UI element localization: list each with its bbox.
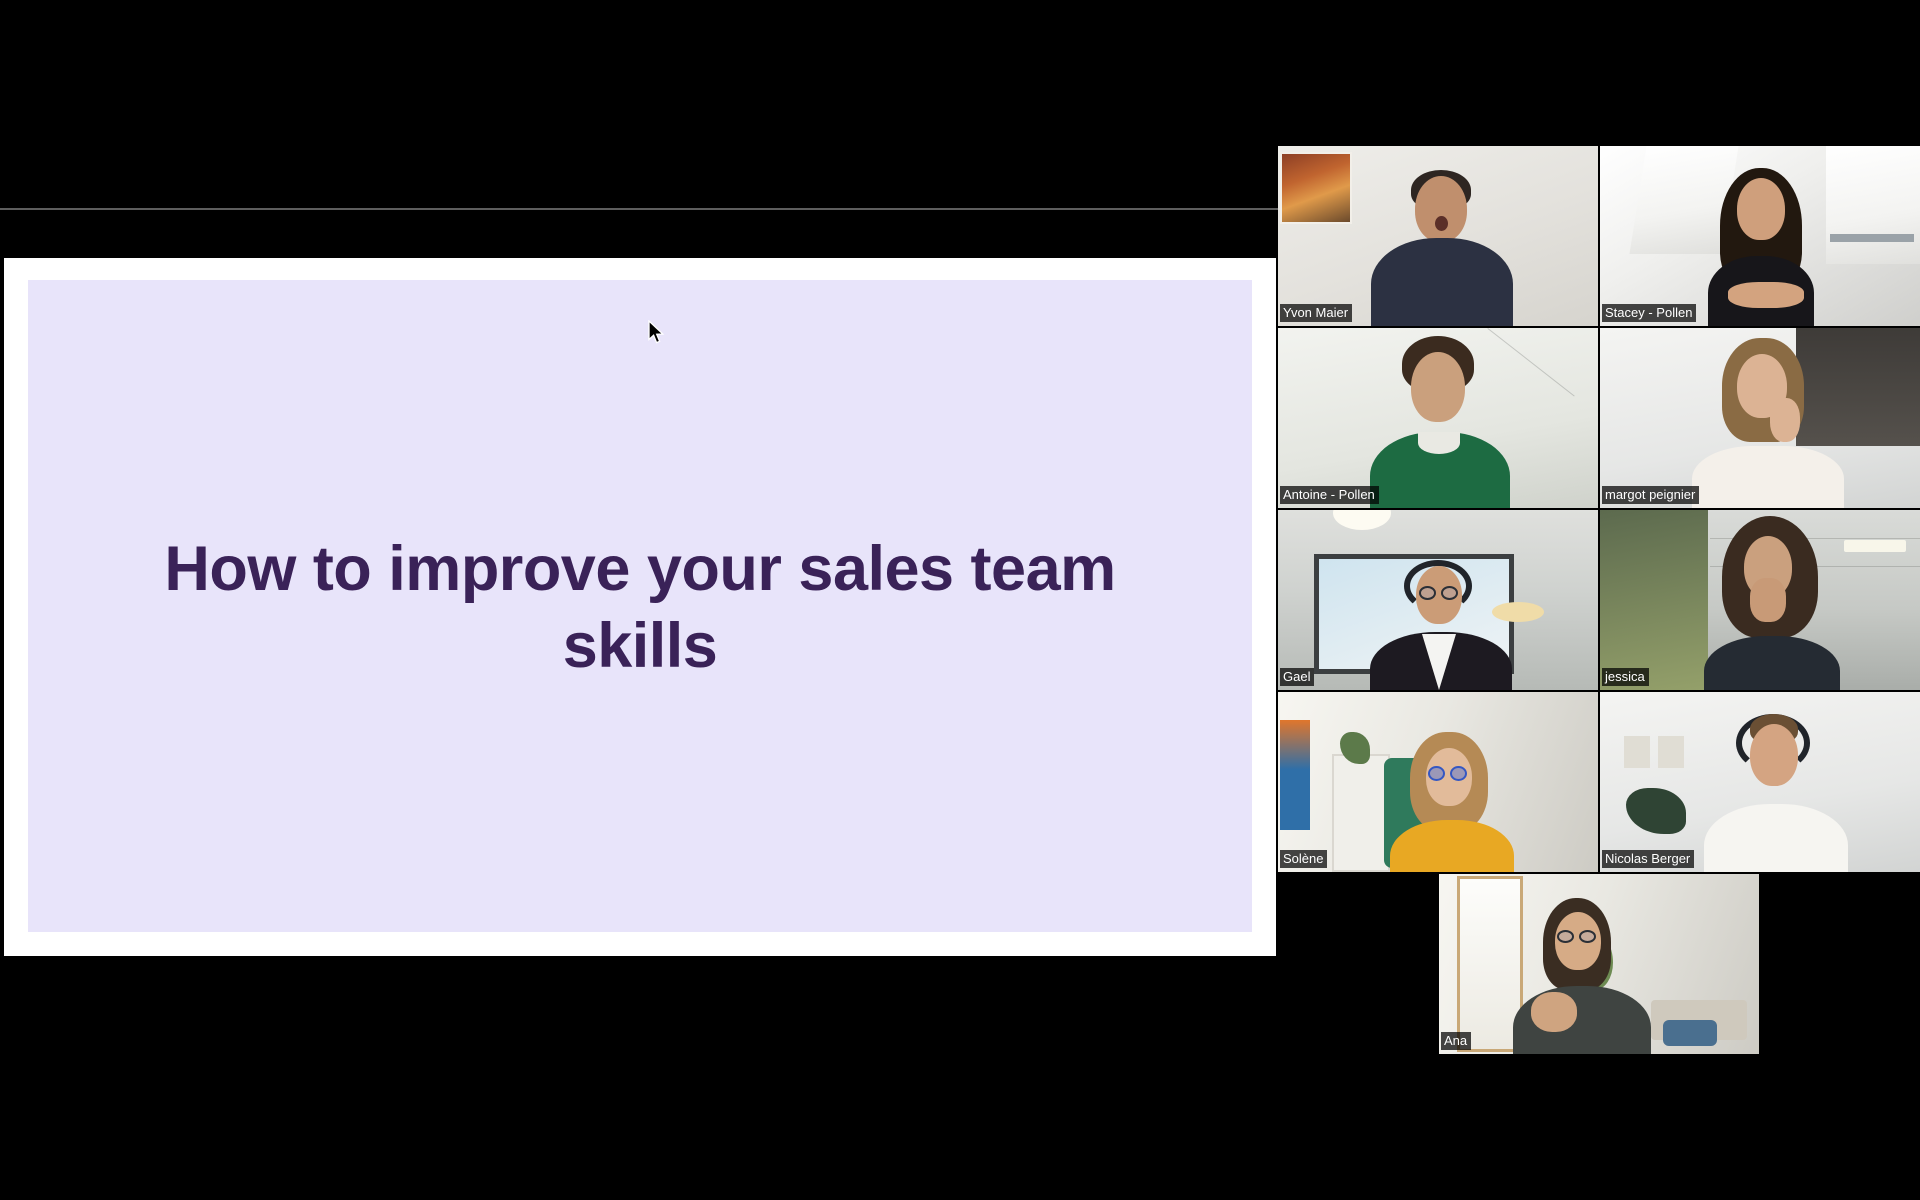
- video-row-4: Solène Nicolas Berger: [1278, 692, 1920, 872]
- participant-name-label: Gael: [1280, 668, 1314, 686]
- video-row-5: Ana: [1278, 874, 1920, 1054]
- participant-name-label: margot peignier: [1602, 486, 1699, 504]
- dark-background-area: [1796, 328, 1920, 446]
- person-torso-striped: [1692, 446, 1844, 508]
- person-head: [1750, 724, 1798, 786]
- pendant-lamp: [1492, 602, 1544, 622]
- hanging-clothes: [1280, 720, 1310, 830]
- video-row-2: Antoine - Pollen margot peignier: [1278, 328, 1920, 508]
- ceiling-light-panel: [1844, 540, 1906, 552]
- participant-name-label: Ana: [1441, 1032, 1471, 1050]
- video-feed: [1278, 328, 1598, 508]
- person-torso: [1371, 238, 1513, 326]
- bag-object: [1663, 1020, 1717, 1046]
- participant-name-label: Antoine - Pollen: [1280, 486, 1379, 504]
- side-window: [1826, 146, 1920, 264]
- video-feed: [1600, 692, 1920, 872]
- window-pane: [1830, 234, 1914, 242]
- video-tile-margot-peignier[interactable]: margot peignier: [1600, 328, 1920, 508]
- participant-name-label: jessica: [1602, 668, 1649, 686]
- video-tile-stacey-pollen[interactable]: Stacey - Pollen: [1600, 146, 1920, 326]
- eyeglasses-icon: [1579, 930, 1596, 943]
- person-torso: [1704, 636, 1840, 690]
- wall-art-decor: [1280, 152, 1352, 224]
- video-feed: [1439, 874, 1759, 1054]
- office-wall-green: [1600, 510, 1708, 690]
- participant-video-grid: Yvon Maier Stacey - Pollen: [1278, 0, 1920, 1200]
- shirt-collar: [1418, 432, 1460, 454]
- person-head: [1415, 176, 1467, 242]
- person-hand: [1770, 398, 1800, 442]
- wall-corner-line: [1487, 328, 1574, 397]
- video-row-3: Gael jessica: [1278, 510, 1920, 690]
- video-feed: [1278, 692, 1598, 872]
- ceiling-lamp: [1333, 510, 1391, 530]
- video-row-1: Yvon Maier Stacey - Pollen: [1278, 146, 1920, 326]
- eyeglasses-icon: [1557, 930, 1574, 943]
- presentation-slide-frame[interactable]: How to improve your sales team skills: [4, 258, 1276, 956]
- video-tile-antoine-pollen[interactable]: Antoine - Pollen: [1278, 328, 1598, 508]
- wall-frame-decor: [1624, 736, 1650, 768]
- slide-title: How to improve your sales team skills: [126, 531, 1154, 685]
- video-feed: [1600, 510, 1920, 690]
- meeting-screen: How to improve your sales team skills: [0, 0, 1920, 1200]
- person-arm: [1531, 992, 1577, 1032]
- video-feed: [1600, 328, 1920, 508]
- person-torso: [1704, 804, 1848, 872]
- wall-frame-decor: [1658, 736, 1684, 768]
- person-head: [1411, 352, 1465, 422]
- share-top-divider: [0, 208, 1278, 210]
- person-mouth: [1435, 216, 1448, 231]
- eyeglasses-icon: [1441, 586, 1458, 600]
- person-head: [1737, 178, 1785, 240]
- video-tile-yvon-maier[interactable]: Yvon Maier: [1278, 146, 1598, 326]
- person-hands: [1728, 282, 1804, 308]
- video-tile-ana[interactable]: Ana: [1439, 874, 1759, 1054]
- participant-name-label: Nicolas Berger: [1602, 850, 1694, 868]
- video-tile-solene[interactable]: Solène: [1278, 692, 1598, 872]
- eyeglasses-icon: [1450, 766, 1467, 781]
- participant-name-label: Stacey - Pollen: [1602, 304, 1696, 322]
- participant-name-label: Yvon Maier: [1280, 304, 1352, 322]
- plant-icon: [1626, 788, 1686, 834]
- video-feed: [1278, 510, 1598, 690]
- bookshelf: [1332, 754, 1390, 872]
- participant-name-label: Solène: [1280, 850, 1327, 868]
- eyeglasses-icon: [1419, 586, 1436, 600]
- screen-share-region[interactable]: How to improve your sales team skills: [0, 0, 1278, 1200]
- video-grid-rows: Yvon Maier Stacey - Pollen: [1278, 146, 1920, 1054]
- video-feed: [1600, 146, 1920, 326]
- eyeglasses-icon: [1428, 766, 1445, 781]
- slide-canvas[interactable]: How to improve your sales team skills: [28, 280, 1252, 932]
- video-tile-gael[interactable]: Gael: [1278, 510, 1598, 690]
- video-tile-nicolas-berger[interactable]: Nicolas Berger: [1600, 692, 1920, 872]
- person-hand: [1750, 578, 1786, 622]
- video-tile-jessica[interactable]: jessica: [1600, 510, 1920, 690]
- video-feed: [1278, 146, 1598, 326]
